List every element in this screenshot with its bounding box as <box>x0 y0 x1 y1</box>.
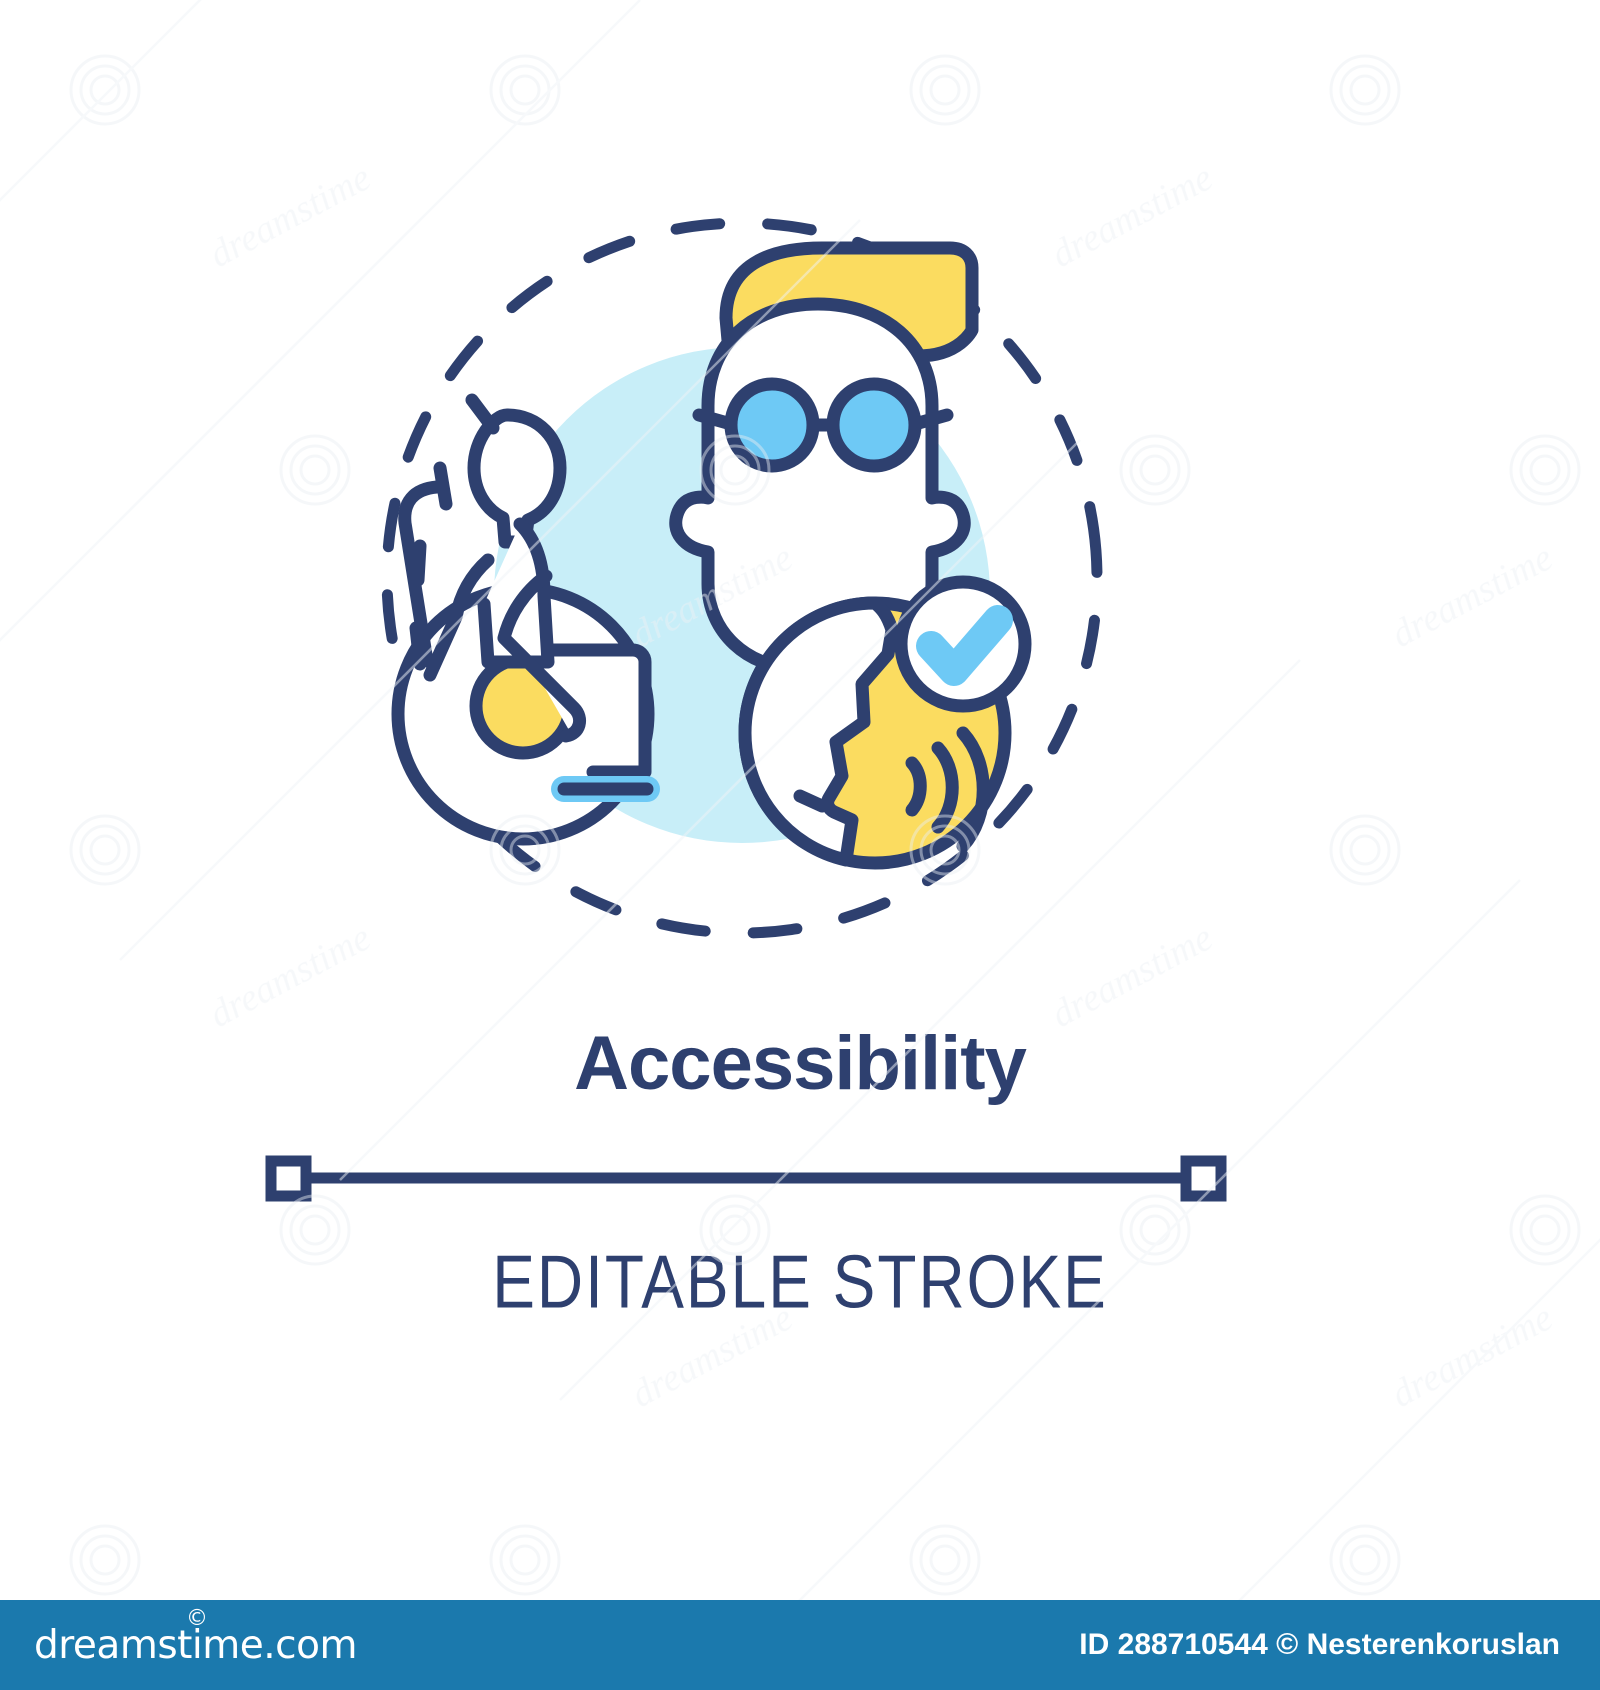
glasses-left-lens <box>731 384 813 466</box>
divider-cap-right <box>1186 1161 1221 1196</box>
stock-illustration-page: Accessibility EDITABLE STROKE <box>0 0 1600 1690</box>
speaking-mouth-line <box>800 796 822 806</box>
accessibility-concept-illustration <box>0 0 1600 1010</box>
divider-cap-left <box>271 1161 306 1196</box>
concept-title: Accessibility <box>0 1022 1600 1106</box>
footer-bar: dreamstime.com © ID 288710544 © Nesteren… <box>0 1600 1600 1690</box>
dreamstime-logo[interactable]: dreamstime.com © <box>34 1623 357 1668</box>
registered-mark-icon: © <box>186 1606 208 1631</box>
editable-stroke-divider <box>0 1148 1600 1208</box>
glasses-right-lens <box>833 384 915 466</box>
image-credit: ID 288710544 © Nesterenkoruslan <box>1079 1628 1560 1662</box>
editable-stroke-caption: EDITABLE STROKE <box>0 1238 1600 1325</box>
